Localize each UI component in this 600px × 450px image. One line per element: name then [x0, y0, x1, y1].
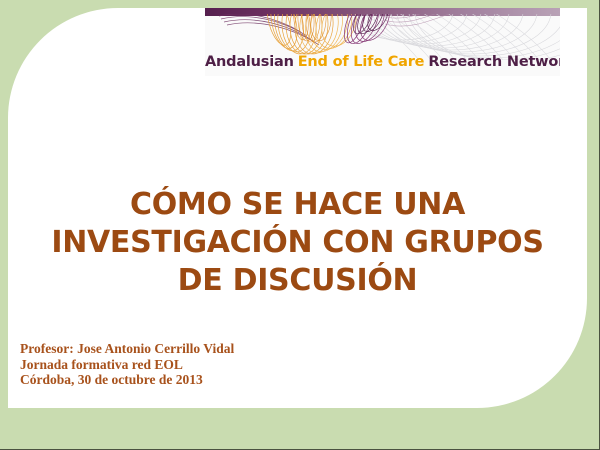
slide-subtitle: Profesor: Jose Antonio Cerrillo Vidal Jo…	[20, 341, 234, 388]
organization-logo-banner: AndalusianEnd of Life CareResearch Netwo…	[205, 8, 560, 76]
slide-title: CÓMO SE HACE UNA INVESTIGACIÓN CON GRUPO…	[8, 186, 587, 300]
logo-wordmark: AndalusianEnd of Life CareResearch Netwo…	[205, 54, 560, 70]
subtitle-event: Jornada formativa red EOL	[20, 357, 234, 373]
subtitle-presenter: Profesor: Jose Antonio Cerrillo Vidal	[20, 341, 234, 357]
logo-wordmark-part3: Research Network	[428, 54, 560, 70]
title-line-3: DE DISCUSIÓN	[8, 262, 587, 300]
title-line-2: INVESTIGACIÓN CON GRUPOS	[8, 224, 587, 262]
title-slide: AndalusianEnd of Life CareResearch Netwo…	[0, 0, 600, 450]
logo-wordmark-part1: Andalusian	[205, 54, 294, 70]
subtitle-location-date: Córdoba, 30 de octubre de 2013	[20, 372, 234, 388]
title-line-1: CÓMO SE HACE UNA	[8, 186, 587, 224]
logo-wordmark-part2: End of Life Care	[298, 54, 425, 70]
